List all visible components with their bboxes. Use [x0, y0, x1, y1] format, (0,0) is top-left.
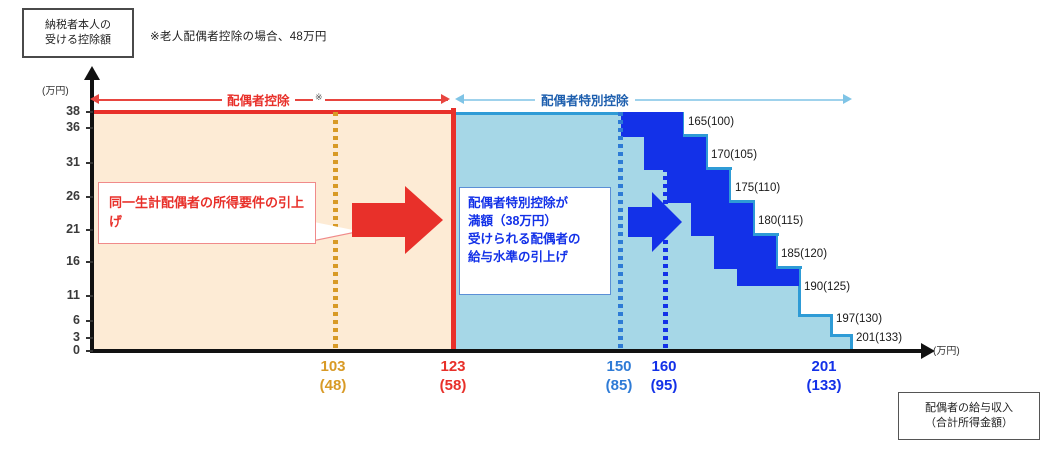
y-tick-mark-6 — [86, 320, 93, 322]
step-label-197: 197(130) — [836, 313, 882, 325]
y-tick-label-38: 38 — [46, 104, 80, 118]
blue-block-arrow-shaft — [628, 207, 655, 237]
blue-block-arrow-head-icon — [652, 192, 682, 252]
y-tick-label-16: 16 — [46, 254, 80, 268]
cream-region-top-border — [94, 110, 454, 114]
y-tick-label-11: 11 — [46, 288, 80, 302]
darkblue-step-38 — [621, 112, 683, 137]
y-tick-label-6: 6 — [46, 313, 80, 327]
y-tick-mark-36 — [86, 127, 93, 129]
guide-line-123 — [451, 108, 456, 351]
x-tick-label-160: 160 (95) — [634, 358, 694, 396]
step-label-170: 170(105) — [711, 149, 757, 161]
y-tick-mark-0 — [86, 350, 93, 352]
x-tick-label-123: 123 (58) — [423, 358, 483, 396]
y-tick-mark-16 — [86, 261, 93, 263]
x-tick-201-income: 201 — [811, 358, 836, 375]
x-axis-name-box: 配偶者の給与収入 （合計所得金額） — [898, 392, 1040, 440]
x-axis-name-line1: 配偶者の給与収入 — [925, 401, 1013, 416]
x-tick-103-bracket: (48) — [303, 377, 363, 396]
step-label-175: 175(110) — [735, 182, 780, 194]
blue-callout-line4: 給与水準の引上げ — [468, 248, 602, 266]
darkblue-step-36 — [644, 137, 706, 170]
y-tick-label-36: 36 — [46, 120, 80, 134]
x-tick-label-201: 201 (133) — [794, 358, 854, 396]
y-tick-label-0: 0 — [46, 343, 80, 357]
guide-line-150 — [618, 112, 623, 351]
spouse-deduction-asterisk-mark: ※ — [313, 92, 325, 103]
y-tick-mark-11 — [86, 295, 93, 297]
blue-callout-line1: 配偶者特別控除が — [468, 194, 602, 212]
x-tick-201-bracket: (133) — [794, 377, 854, 396]
special-deduction-range-label: 配偶者特別控除 — [535, 90, 635, 109]
chart-title-line1: 納税者本人の — [45, 18, 111, 33]
arrow-left-red-icon — [90, 94, 99, 104]
x-axis-line — [90, 349, 925, 353]
darkblue-step-21 — [714, 236, 776, 269]
x-tick-160-bracket: (95) — [634, 377, 694, 396]
y-tick-mark-38 — [86, 111, 93, 113]
x-tick-label-103: 103 (48) — [303, 358, 363, 396]
step-label-185: 185(120) — [781, 248, 827, 260]
arrow-right-red-icon — [441, 94, 450, 104]
darkblue-step-26 — [691, 203, 753, 236]
y-tick-mark-31 — [86, 162, 93, 164]
x-tick-103-income: 103 — [320, 358, 345, 375]
x-tick-123-bracket: (58) — [423, 377, 483, 396]
darkblue-step-16 — [737, 269, 799, 286]
arrow-right-blue-icon — [843, 94, 852, 104]
red-callout-box: 同一生計配偶者の所得要件の引上げ — [98, 182, 316, 244]
y-tick-label-26: 26 — [46, 189, 80, 203]
arrow-left-blue-icon — [455, 94, 464, 104]
y-axis-line — [90, 78, 94, 353]
y-tick-mark-3 — [86, 337, 93, 339]
blue-callout-line2: 満額（38万円） — [468, 212, 602, 230]
y-tick-mark-26 — [86, 196, 93, 198]
y-axis-unit-label: (万円) — [42, 82, 69, 97]
spouse-deduction-range-label: 配偶者控除 — [222, 90, 295, 109]
lightblue-edge-v7 — [830, 314, 833, 336]
x-axis-unit-label: (万円) — [933, 342, 960, 357]
x-tick-160-income: 160 — [651, 358, 676, 375]
blue-callout-line3: 受けられる配偶者の — [468, 230, 602, 248]
red-callout-text: 同一生計配偶者の所得要件の引上げ — [109, 194, 305, 232]
chart-title-box: 納税者本人の 受ける控除額 — [22, 8, 134, 58]
red-block-arrow-shaft — [352, 203, 408, 237]
step-label-190: 190(125) — [804, 281, 850, 293]
x-tick-123-income: 123 — [440, 358, 465, 375]
step-label-180: 180(115) — [758, 215, 803, 227]
x-tick-150-income: 150 — [606, 358, 631, 375]
y-tick-label-31: 31 — [46, 155, 80, 169]
y-tick-label-3: 3 — [46, 330, 80, 344]
chart-title-line2: 受ける控除額 — [45, 33, 111, 48]
elderly-spouse-note: ※老人配偶者控除の場合、48万円 — [150, 28, 327, 44]
step-label-165: 165(100) — [688, 116, 734, 128]
red-block-arrow-head-icon — [405, 186, 443, 254]
special-deduction-range-line — [462, 99, 848, 101]
y-tick-label-21: 21 — [46, 222, 80, 236]
y-axis-arrowhead-icon — [84, 66, 100, 80]
lightblue-edge-h6 — [798, 314, 833, 317]
y-tick-mark-21 — [86, 229, 93, 231]
x-axis-name-line2: （合計所得金額） — [925, 416, 1013, 431]
blue-callout-box: 配偶者特別控除が 満額（38万円） 受けられる配偶者の 給与水準の引上げ — [459, 187, 611, 295]
step-label-201: 201(133) — [856, 332, 902, 344]
